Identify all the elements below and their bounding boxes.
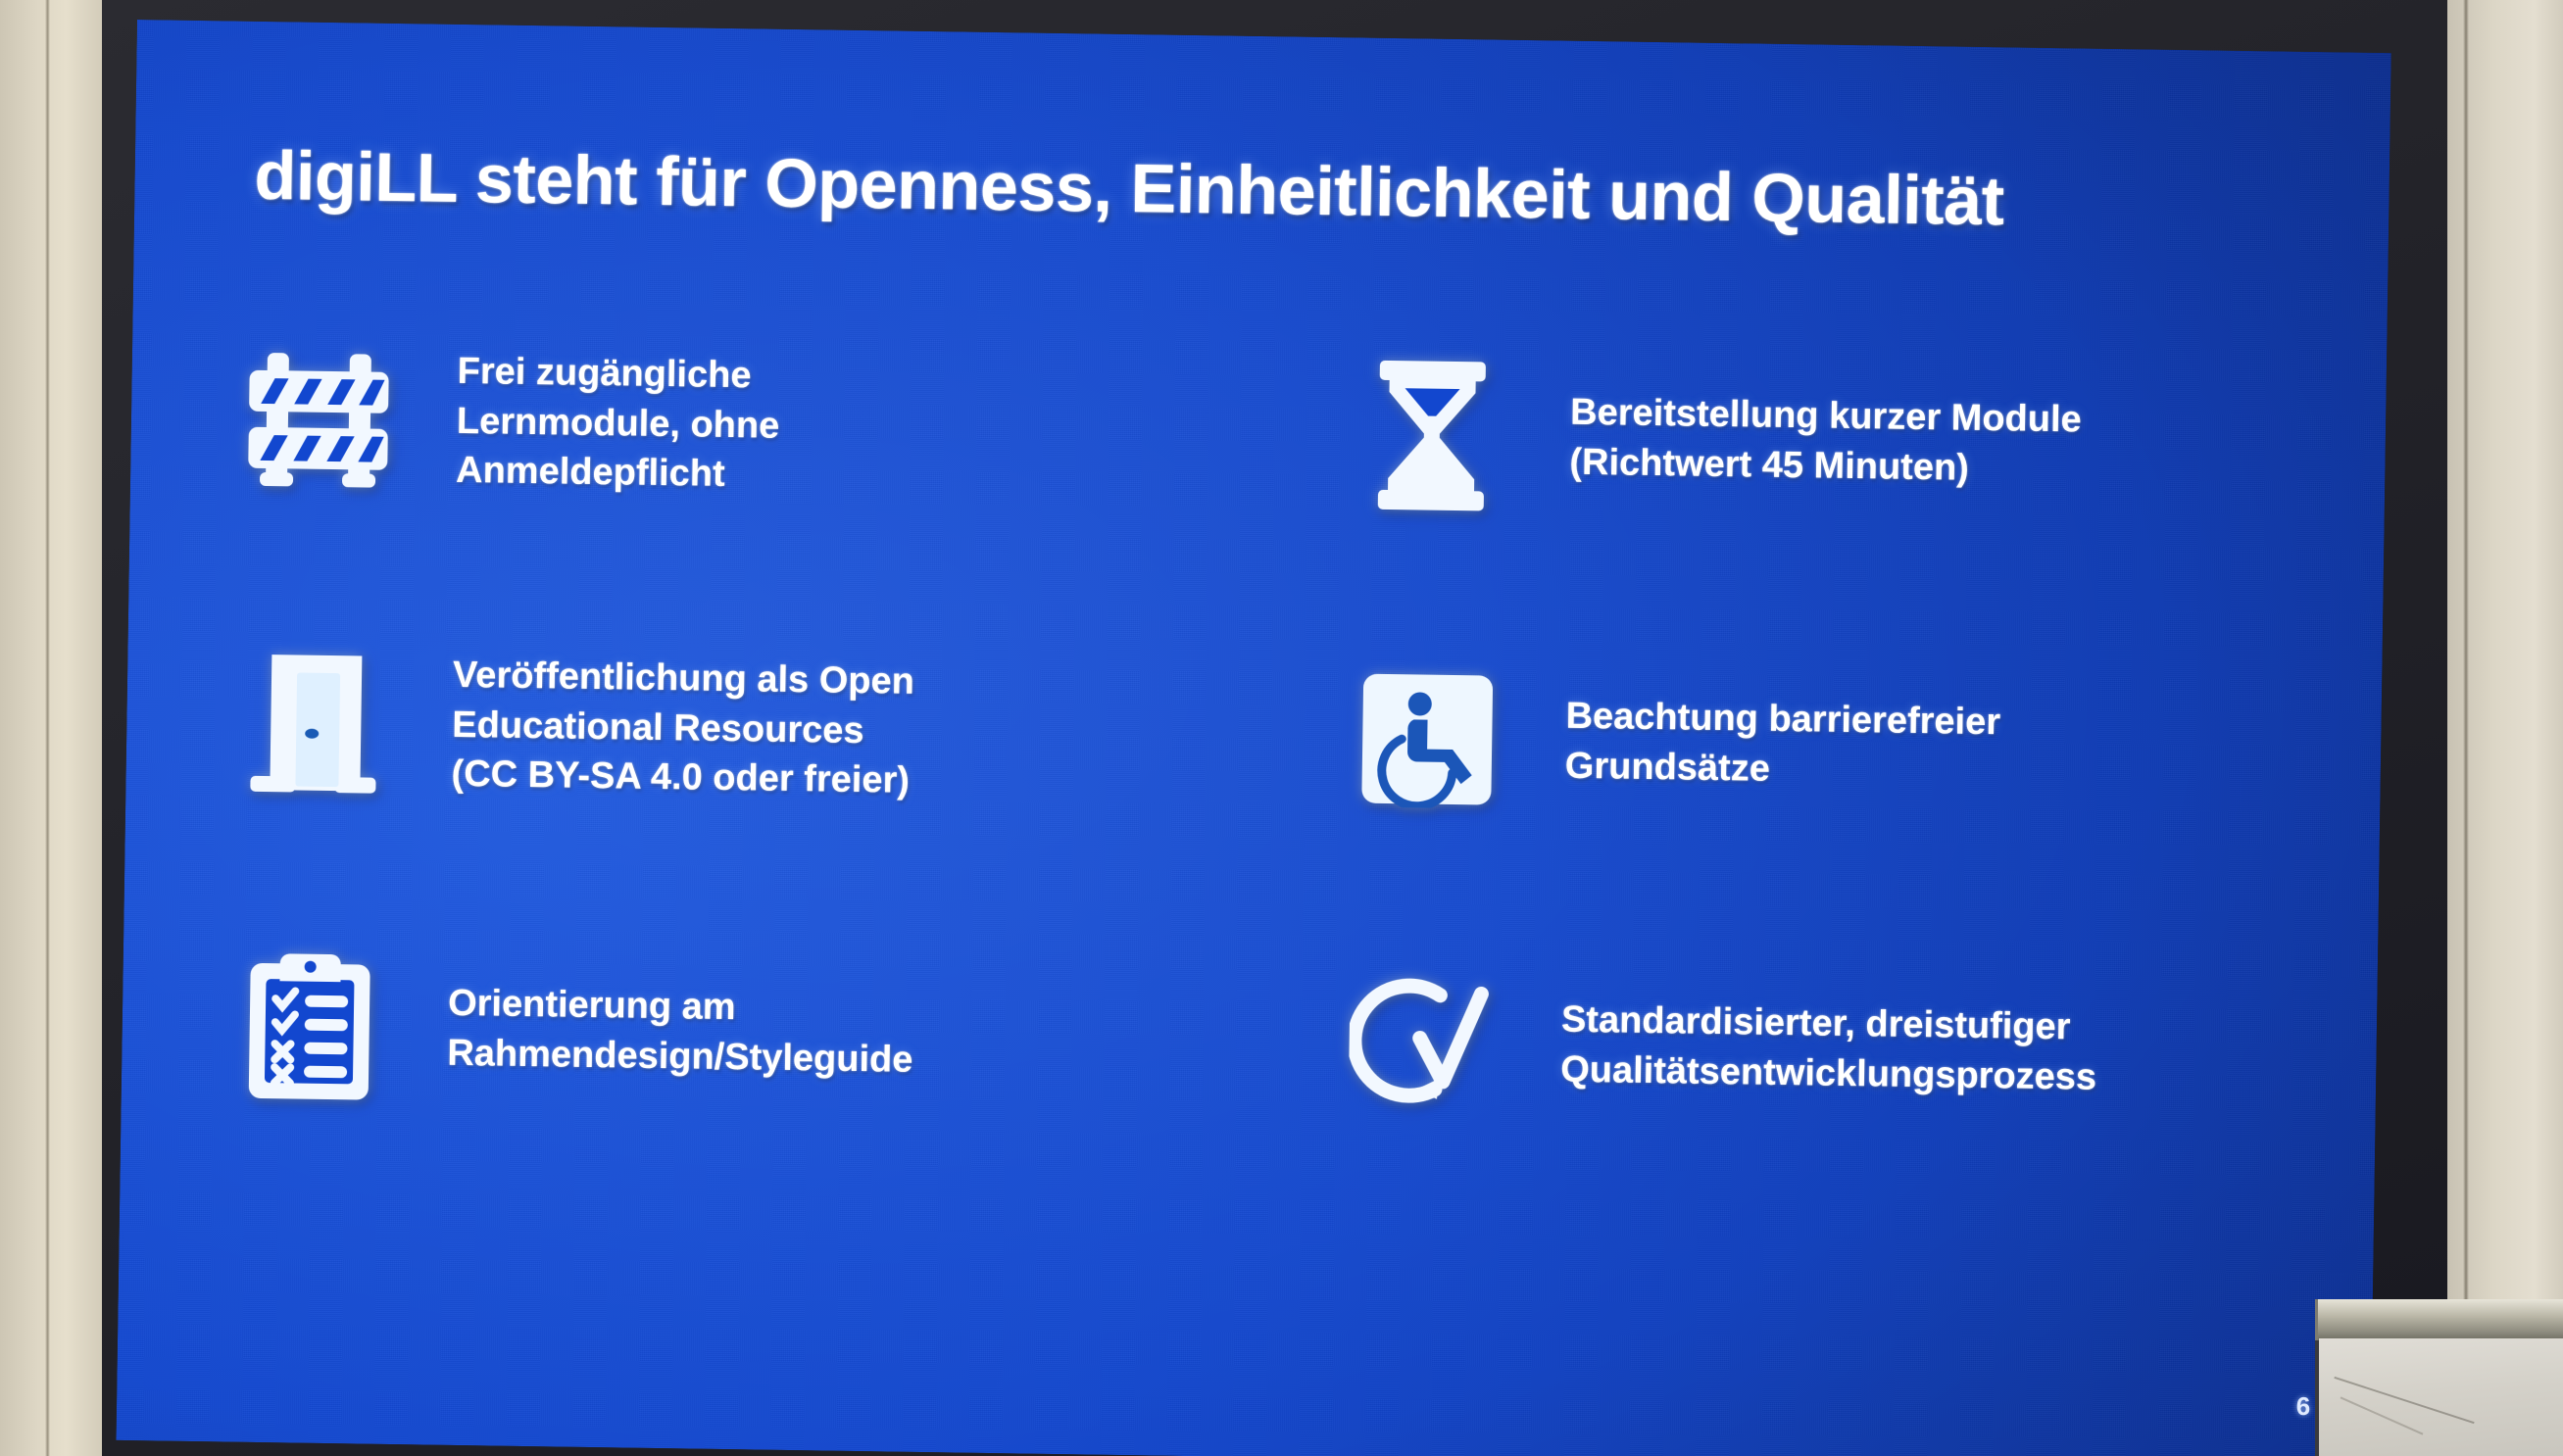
open-door-icon xyxy=(220,633,409,812)
feature-line: Orientierung am xyxy=(448,979,914,1036)
slide-content: digiLL steht für Openness, Einheitlichke… xyxy=(116,20,2390,1456)
feature-line: Beachtung barrierefreier xyxy=(1565,692,2000,748)
feature-label: Orientierung am Rahmendesign/Styleguide xyxy=(447,979,914,1086)
flipchart-paper xyxy=(2319,1338,2563,1456)
page-title: digiLL steht für Openness, Einheitlichke… xyxy=(254,137,2274,244)
projected-slide-photo: digiLL steht für Openness, Einheitlichke… xyxy=(0,0,2563,1456)
road-barrier-icon xyxy=(224,329,414,509)
feature-line: Grundsätze xyxy=(1564,742,1999,798)
feature-label: Bereitstellung kurzer Module (Richtwert … xyxy=(1569,388,2082,496)
feature-grid: Frei zugängliche Lernmodule, ohne Anmeld… xyxy=(214,266,2315,1207)
feature-item-short-modules: Bereitstellung kurzer Module (Richtwert … xyxy=(1302,282,2315,601)
feature-line: Rahmendesign/Styleguide xyxy=(447,1029,913,1086)
flipchart-board xyxy=(2315,1299,2563,1456)
feature-line: Frei zugängliche xyxy=(457,347,780,402)
clipboard-checklist-icon xyxy=(215,937,404,1116)
feature-line: Bereitstellung kurzer Module xyxy=(1570,388,2082,446)
feature-line: (Richtwert 45 Minuten) xyxy=(1569,438,2081,496)
feature-item-styleguide: Orientierung am Rahmendesign/Styleguide xyxy=(214,873,1227,1191)
wall-right-seam xyxy=(2463,0,2469,1456)
quality-cycle-check-icon xyxy=(1328,953,1517,1133)
feature-label: Beachtung barrierefreier Grundsätze xyxy=(1564,692,2000,798)
hourglass-icon xyxy=(1338,346,1527,525)
wall-left xyxy=(0,0,110,1456)
feature-label: Standardisierter, dreistufiger Qualitäts… xyxy=(1560,995,2097,1103)
feature-line: Lernmodule, ohne xyxy=(457,396,780,451)
wall-right xyxy=(2447,0,2563,1456)
feature-line: Anmeldepflicht xyxy=(456,446,779,501)
flipchart-rail xyxy=(2315,1299,2563,1340)
feature-label: Veröffentlichung als Open Educational Re… xyxy=(451,650,914,806)
feature-item-oer-license: Veröffentlichung als Open Educational Re… xyxy=(219,569,1232,888)
paper-crease xyxy=(2334,1377,2474,1424)
feature-line: (CC BY-SA 4.0 oder freier) xyxy=(451,750,913,806)
presentation-slide: digiLL steht für Openness, Einheitlichke… xyxy=(116,20,2390,1456)
feature-item-quality-process: Standardisierter, dreistufiger Qualitäts… xyxy=(1292,890,2305,1208)
feature-line: Veröffentlichung als Open xyxy=(453,650,915,706)
feature-item-open-access: Frei zugängliche Lernmodule, ohne Anmeld… xyxy=(223,266,1237,584)
page-number: 6 xyxy=(2296,1391,2311,1422)
feature-line: Educational Resources xyxy=(452,700,914,756)
feature-item-accessibility: Beachtung barrierefreier Grundsätze xyxy=(1297,586,2310,904)
feature-label: Frei zugängliche Lernmodule, ohne Anmeld… xyxy=(456,347,781,502)
wall-left-seam xyxy=(45,0,50,1456)
feature-line: Qualitätsentwicklungsprozess xyxy=(1560,1045,2097,1103)
wheelchair-accessibility-icon xyxy=(1333,650,1522,829)
feature-line: Standardisierter, dreistufiger xyxy=(1561,995,2098,1053)
